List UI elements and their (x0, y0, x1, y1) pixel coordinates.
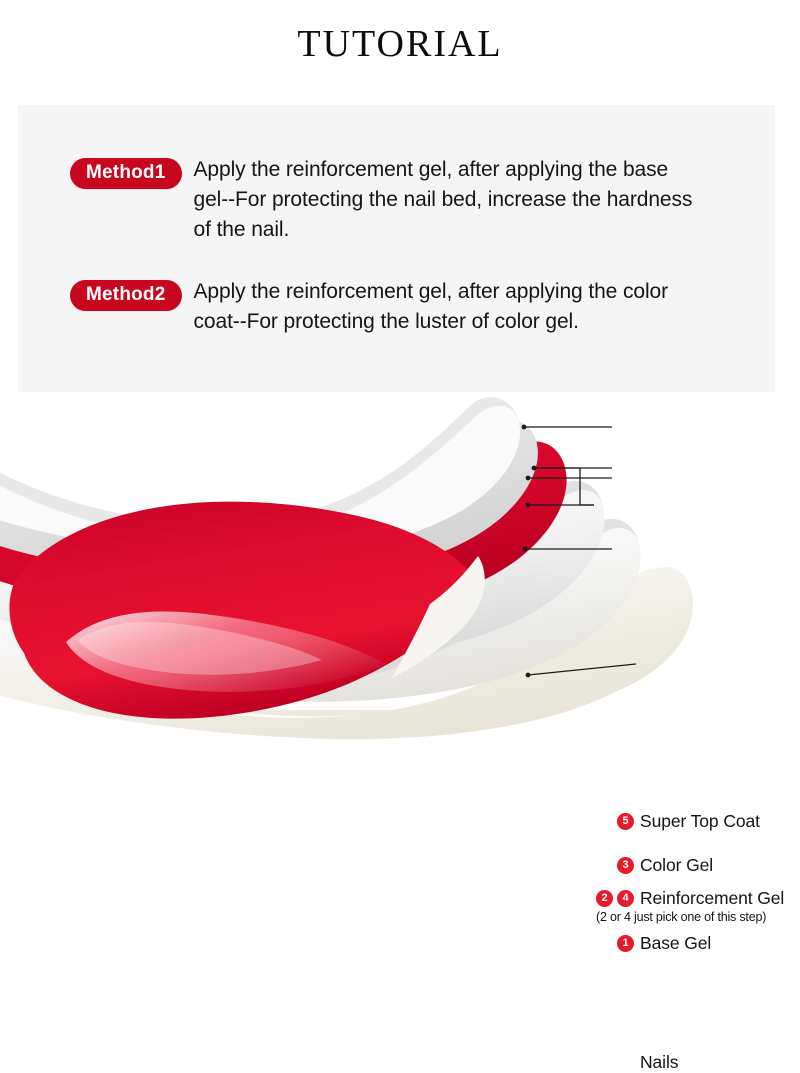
callout-label-nails: Nails (640, 1052, 678, 1073)
method-1-badge: Method1 (70, 158, 182, 189)
callout-base-gel: 1 Base Gel (617, 933, 711, 954)
step-number-badge-2: 2 (596, 890, 613, 907)
callout-super-top-coat: 5 Super Top Coat (617, 811, 760, 832)
method-row-2: Method2 Apply the reinforcement gel, aft… (70, 277, 704, 337)
nail-layers-diagram: 5 Super Top Coat 3 Color Gel 2 4 Reinfor… (0, 392, 800, 800)
callout-color-gel: 3 Color Gel (617, 855, 713, 876)
methods-panel: Method1 Apply the reinforcement gel, aft… (18, 105, 775, 392)
callout-reinforcement-line: 2 4 Reinforcement Gel (596, 888, 784, 909)
callout-nails: Nails (640, 1052, 678, 1073)
method-row-1: Method1 Apply the reinforcement gel, aft… (70, 155, 704, 244)
step-number-badge-1: 1 (617, 935, 634, 952)
nail-cross-section-illustration (0, 392, 800, 800)
step-number-badge-4: 4 (617, 890, 634, 907)
callout-reinforcement-gel: 2 4 Reinforcement Gel (2 or 4 just pick … (596, 888, 784, 924)
method-2-text: Apply the reinforcement gel, after apply… (194, 277, 704, 337)
callout-label-reinforcement-gel: Reinforcement Gel (640, 888, 784, 909)
method-1-text: Apply the reinforcement gel, after apply… (194, 155, 704, 244)
step-number-badge-3: 3 (617, 857, 634, 874)
step-number-badge-5: 5 (617, 813, 634, 830)
callout-label-color-gel: Color Gel (640, 855, 713, 876)
callout-label-base-gel: Base Gel (640, 933, 711, 954)
callout-label-super-top-coat: Super Top Coat (640, 811, 760, 832)
callout-note-reinforcement-gel: (2 or 4 just pick one of this step) (596, 910, 766, 924)
method-2-badge: Method2 (70, 280, 182, 311)
page-title: TUTORIAL (0, 22, 800, 66)
